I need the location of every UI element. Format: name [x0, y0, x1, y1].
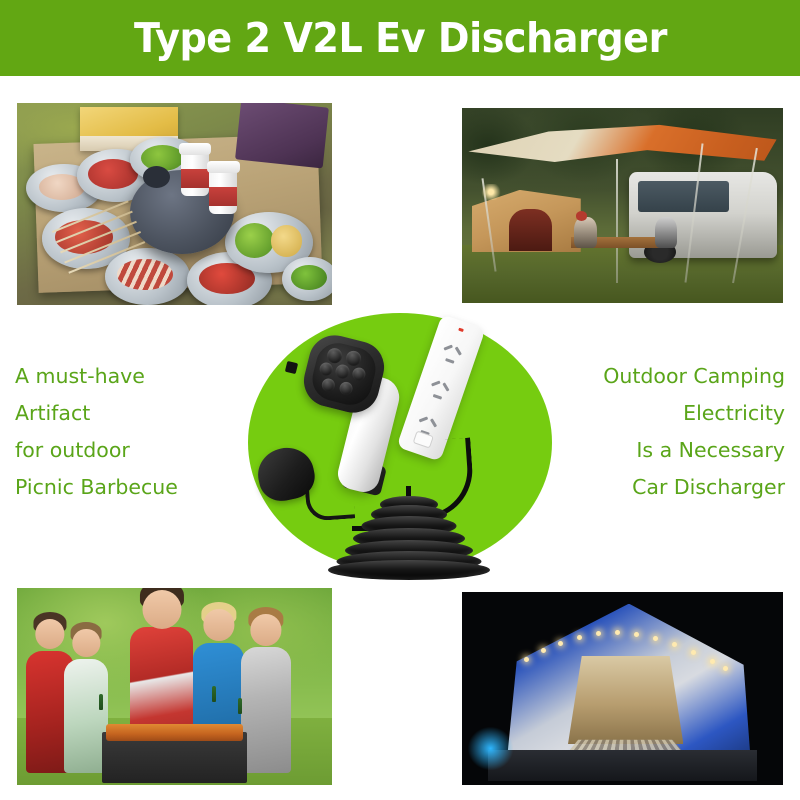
connector-pin — [351, 366, 367, 382]
connector-pin — [320, 377, 336, 393]
string-lights — [520, 627, 732, 685]
beer-bottle — [212, 686, 216, 702]
beer-bottle — [238, 698, 242, 714]
bowl-food — [291, 265, 327, 291]
photo-campsite-awning — [462, 108, 783, 303]
picnic-scene — [17, 103, 332, 305]
coiled-cable — [326, 496, 492, 578]
tent-floor — [488, 750, 758, 781]
camper-person — [574, 217, 596, 248]
person-ponytail — [241, 647, 291, 773]
tarp-pole — [616, 159, 618, 284]
connector-pin — [334, 363, 351, 380]
head — [35, 619, 64, 648]
copy-right-line-2: Electricity — [603, 395, 785, 432]
night-tent-scene — [462, 592, 783, 785]
product-image — [248, 300, 552, 600]
head — [73, 629, 100, 656]
side-bowl — [282, 257, 332, 301]
socket-outlet — [420, 374, 458, 412]
page-title: Type 2 V2L Ev Discharger — [134, 18, 667, 59]
connector-face — [308, 339, 380, 410]
header-banner: Type 2 V2L Ev Discharger — [0, 0, 800, 76]
camp-chair — [235, 103, 329, 168]
photo-picnic-spread — [17, 103, 332, 305]
connector-latch — [285, 361, 298, 374]
campsite-scene — [462, 108, 783, 303]
copy-left-line-2: Artifact — [15, 395, 178, 432]
platter-food — [235, 223, 274, 258]
connector-pin — [318, 361, 334, 377]
copy-left: A must-have Artifact for outdoor Picnic … — [15, 358, 178, 506]
copy-right-line-1: Outdoor Camping — [603, 358, 785, 395]
drink-cup — [181, 147, 209, 195]
copy-right-line-3: Is a Necessary — [603, 432, 785, 469]
copy-left-line-4: Picnic Barbecue — [15, 469, 178, 506]
head — [142, 590, 181, 629]
copy-right: Outdoor Camping Electricity Is a Necessa… — [603, 358, 785, 506]
photo-night-tent — [462, 592, 783, 785]
connector-pin — [344, 349, 362, 367]
camp-lantern — [481, 184, 500, 200]
copy-left-line-1: A must-have — [15, 358, 178, 395]
socket-outlet — [433, 338, 471, 376]
blue-light-glow — [468, 727, 513, 769]
copy-left-line-3: for outdoor — [15, 432, 178, 469]
camper-person — [655, 217, 677, 248]
power-indicator-led — [458, 328, 464, 332]
photo-friends-grilling — [17, 588, 332, 785]
platter-food — [117, 259, 173, 291]
charcoal-grill — [102, 732, 247, 783]
drink-cup — [209, 166, 237, 214]
head — [250, 614, 281, 645]
bbq-party-scene — [17, 588, 332, 785]
copy-right-line-4: Car Discharger — [603, 469, 785, 506]
connector-pin — [338, 381, 354, 397]
platter-food — [271, 225, 303, 257]
beer-bottle — [99, 694, 103, 710]
head — [203, 609, 234, 640]
